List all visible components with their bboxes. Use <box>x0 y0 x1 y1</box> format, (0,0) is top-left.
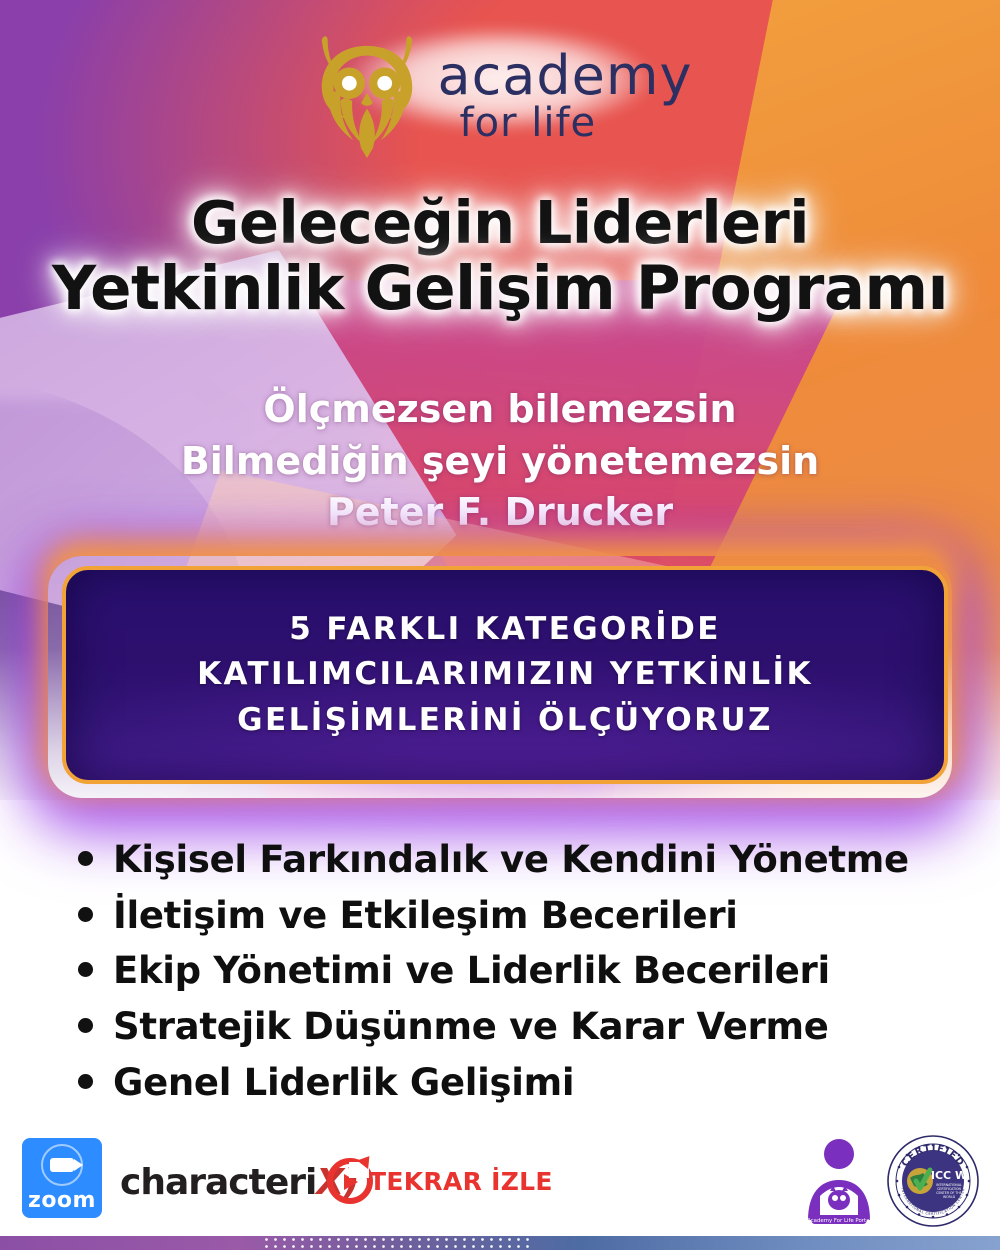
tekrar-izle-logo: TEKRAR İZLE <box>327 1158 553 1204</box>
bullet-dot-icon <box>78 851 93 866</box>
replay-play-icon <box>327 1158 373 1204</box>
banner-line-2: KATILIMCILARIMIZIN YETKİNLİK <box>197 652 813 697</box>
footer-logos: zoom characteriX) TEKRAR İZLE <box>0 1128 1000 1236</box>
brand-wordmark: academy for life <box>438 50 693 142</box>
portal-badge-label: Academy For Life Portal <box>807 1218 871 1224</box>
svg-text:WORLD: WORLD <box>943 1195 956 1199</box>
bottom-dot-pattern <box>262 1236 532 1250</box>
page-title: Geleceğin Liderleri Yetkinlik Gelişim Pr… <box>0 192 1000 321</box>
list-item-label: Ekip Yönetimi ve Liderlik Becerileri <box>113 949 830 993</box>
list-item-label: Stratejik Düşünme ve Karar Verme <box>113 1005 829 1049</box>
banner-text: 5 FARKLI KATEGORİDE KATILIMCILARIMIZIN Y… <box>173 607 837 743</box>
characterix-logo: characteriX) <box>120 1162 359 1203</box>
quote-block: Ölçmezsen bilemezsin Bilmediğin şeyi yön… <box>0 384 1000 539</box>
owl-icon <box>308 32 426 160</box>
bullet-dot-icon <box>78 962 93 977</box>
bullet-dot-icon <box>78 1074 93 1089</box>
bullet-dot-icon <box>78 907 93 922</box>
brand-name-line2: for life <box>460 104 693 142</box>
list-item-label: Genel Liderlik Gelişimi <box>113 1061 574 1105</box>
zoom-label: zoom <box>28 1190 96 1212</box>
highlight-banner: 5 FARKLI KATEGORİDE KATILIMCILARIMIZIN Y… <box>62 566 948 784</box>
list-item: Stratejik Düşünme ve Karar Verme <box>78 1005 978 1049</box>
poster-root: academy for life Geleceğin Liderleri Yet… <box>0 0 1000 1250</box>
quote-line-1: Ölçmezsen bilemezsin <box>0 384 1000 436</box>
title-line-2: Yetkinlik Gelişim Programı <box>0 257 1000 320</box>
list-item-label: Kişisel Farkındalık ve Kendini Yönetme <box>113 838 909 882</box>
quote-line-2: Bilmediğin şeyi yönetemezsin <box>0 436 1000 488</box>
quote-author: Peter F. Drucker <box>0 487 1000 539</box>
icc-badge-name: ICC W <box>931 1169 967 1182</box>
tekrar-izle-label: TEKRAR İZLE <box>369 1167 553 1196</box>
academy-for-life-portal-badge: Academy For Life Portal <box>800 1136 878 1228</box>
list-item: Ekip Yönetimi ve Liderlik Becerileri <box>78 949 978 993</box>
zoom-logo: zoom <box>22 1138 102 1218</box>
brand-name-line1: academy <box>438 50 693 102</box>
list-item: Kişisel Farkındalık ve Kendini Yönetme <box>78 838 978 882</box>
bullet-dot-icon <box>78 1018 93 1033</box>
list-item: İletişim ve Etkileşim Becerileri <box>78 894 978 938</box>
category-list: Kişisel Farkındalık ve Kendini Yönetme İ… <box>78 838 978 1116</box>
characterix-label: characteri <box>120 1162 316 1203</box>
list-item: Genel Liderlik Gelişimi <box>78 1061 978 1105</box>
list-item-label: İletişim ve Etkileşim Becerileri <box>113 894 738 938</box>
brand-logo: academy for life <box>0 26 1000 166</box>
title-line-1: Geleceğin Liderleri <box>0 192 1000 253</box>
video-camera-icon <box>41 1144 83 1186</box>
icc-w-certified-badge: ICC W INTERNATIONAL CERTIFICATION CENTER… <box>886 1134 980 1228</box>
banner-line-1: 5 FARKLI KATEGORİDE <box>197 607 813 652</box>
banner-line-3: GELİŞİMLERİNİ ÖLÇÜYORUZ <box>197 698 813 743</box>
